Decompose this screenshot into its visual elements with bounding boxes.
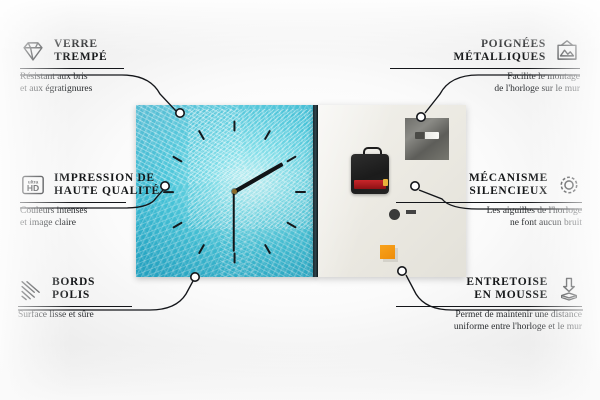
clock-tick bbox=[295, 191, 306, 193]
callout-header: POIGNÉES MÉTALLIQUES bbox=[390, 38, 580, 64]
callout-title: IMPRESSION DE HAUTE QUALITÉ bbox=[54, 172, 160, 198]
ultra-hd-icon: ultra HD bbox=[20, 172, 46, 198]
callout-rule bbox=[18, 306, 132, 307]
callout-impression-haute-qualite: ultra HD IMPRESSION DE HAUTE QUALITÉ Cou… bbox=[20, 172, 180, 229]
callout-subtitle-line1: Les aiguilles de l'horloge bbox=[396, 206, 582, 218]
callout-entretoise-en-mousse: ENTRETOISE EN MOUSSE Permet de maintenir… bbox=[396, 276, 582, 333]
callout-header: VERRE TREMPÉ bbox=[20, 38, 170, 64]
diamond-icon bbox=[20, 38, 46, 64]
svg-text:HD: HD bbox=[27, 183, 39, 193]
callout-title: MÉCANISME SILENCIEUX bbox=[469, 172, 548, 198]
callout-rule bbox=[396, 306, 582, 307]
callout-subtitle-line2: de l'horloge sur le mur bbox=[390, 84, 580, 96]
picture-hanger-icon bbox=[554, 38, 580, 64]
infographic-page: VERRE TREMPÉ Résistant aux bris et aux é… bbox=[0, 0, 600, 400]
callout-subtitle-line1: Permet de maintenir une distance bbox=[396, 310, 582, 322]
callout-rule bbox=[396, 202, 582, 203]
clock-tick bbox=[233, 252, 235, 263]
callout-bords-polis: BORDS POLIS Surface lisse et sûre bbox=[18, 276, 178, 322]
foam-spacer bbox=[380, 245, 395, 259]
callout-header: ultra HD IMPRESSION DE HAUTE QUALITÉ bbox=[20, 172, 180, 198]
battery-terminal bbox=[383, 179, 388, 186]
callout-title: ENTRETOISE EN MOUSSE bbox=[466, 276, 548, 302]
callout-title: VERRE TREMPÉ bbox=[54, 38, 107, 64]
callout-rule bbox=[390, 68, 580, 69]
polished-edges-icon bbox=[18, 276, 44, 302]
callout-subtitle-line1: Couleurs intenses bbox=[20, 206, 180, 218]
callout-subtitle-line2: uniforme entre l'horloge et le mur bbox=[396, 322, 582, 334]
callout-verre-trempe: VERRE TREMPÉ Résistant aux bris et aux é… bbox=[20, 38, 170, 95]
callout-mecanisme-silencieux: MÉCANISME SILENCIEUX Les aiguilles de l'… bbox=[396, 172, 582, 229]
callout-poignees-metalliques: POIGNÉES MÉTALLIQUES Facilite le montage… bbox=[390, 38, 580, 95]
callout-rule bbox=[20, 68, 124, 69]
callout-subtitle-line1: Facilite le montage bbox=[390, 72, 580, 84]
callout-subtitle-line2: et image claire bbox=[20, 218, 180, 230]
foam-spacer-icon bbox=[556, 276, 582, 302]
hanger-slot bbox=[415, 132, 439, 139]
callout-subtitle-line2: et aux égratignures bbox=[20, 84, 170, 96]
callout-header: ENTRETOISE EN MOUSSE bbox=[396, 276, 582, 302]
callout-header: BORDS POLIS bbox=[18, 276, 178, 302]
callout-subtitle-line1: Résistant aux bris bbox=[20, 72, 170, 84]
battery bbox=[354, 180, 386, 189]
callout-subtitle-line1: Surface lisse et sûre bbox=[18, 310, 178, 322]
callout-title: POIGNÉES MÉTALLIQUES bbox=[454, 38, 546, 64]
gear-icon bbox=[556, 172, 582, 198]
callout-title: BORDS POLIS bbox=[52, 276, 95, 302]
callout-subtitle-line2: ne font aucun bruit bbox=[396, 218, 582, 230]
callout-rule bbox=[20, 202, 126, 203]
callout-header: MÉCANISME SILENCIEUX bbox=[396, 172, 582, 198]
metal-hanger-plate bbox=[405, 118, 449, 160]
clock-tick bbox=[233, 120, 235, 131]
